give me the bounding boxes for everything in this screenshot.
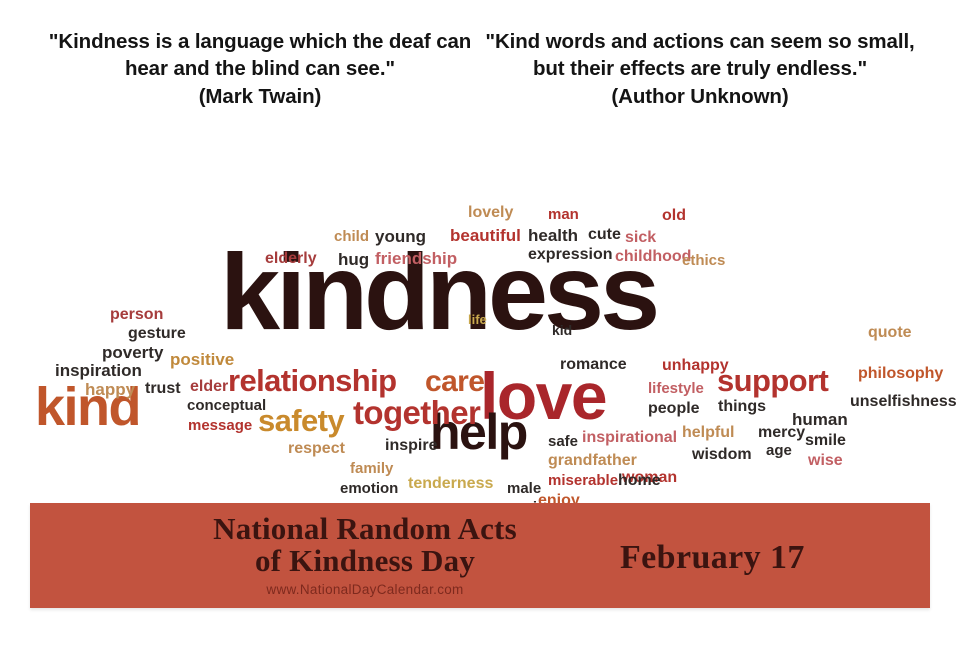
wordcloud-word: inspirational: [582, 430, 677, 446]
wordcloud-word: beautiful: [450, 227, 521, 244]
wordcloud-word: happy: [85, 381, 135, 398]
wordcloud-word: grandfather: [548, 453, 637, 469]
wordcloud-word: person: [110, 307, 163, 323]
wordcloud-word: expression: [528, 247, 612, 263]
wordcloud-word: care: [425, 367, 484, 397]
wordcloud-word: gesture: [128, 326, 186, 342]
wordcloud-word: emotion: [340, 481, 398, 496]
wordcloud-word: inspiration: [55, 362, 142, 379]
wordcloud-word: elderly: [265, 251, 317, 267]
wordcloud-word: young: [375, 228, 426, 245]
wordcloud-word: inspire: [385, 438, 437, 454]
quote-text-right: "Kind words and actions can seem so smal…: [480, 28, 920, 83]
wordcloud-word: elder: [190, 379, 228, 395]
wordcloud-word: romance: [560, 357, 627, 373]
wordcloud-word: wise: [808, 453, 843, 469]
wordcloud-word: male: [507, 481, 541, 496]
quote-attribution-right: (Author Unknown): [480, 83, 920, 110]
wordcloud-word: smile: [805, 433, 846, 449]
wordcloud-word: poverty: [102, 344, 163, 361]
wordcloud-word: old: [662, 208, 686, 224]
wordcloud-word: friendship: [375, 250, 457, 267]
wordcloud-canvas: kindnesskindlovehelptogetherrelationship…: [30, 185, 930, 503]
quote-text-left: "Kindness is a language which the deaf c…: [40, 28, 480, 83]
wordcloud-word: hug: [338, 251, 369, 268]
wordcloud-word: miserable: [548, 473, 618, 488]
wordcloud-word: sick: [625, 230, 656, 246]
wordcloud-word: childhood: [615, 249, 691, 265]
wordcloud-word: human: [792, 411, 848, 428]
wordcloud-word: unhappy: [662, 358, 729, 374]
wordcloud-word: cute: [588, 227, 621, 243]
wordcloud-word: wisdom: [692, 447, 752, 463]
wordcloud-word: man: [548, 207, 579, 222]
wordcloud-word: conceptual: [187, 398, 266, 413]
wordcloud-word: things: [718, 399, 766, 415]
banner-title-line1: National Random Acts: [150, 513, 580, 545]
wordcloud-word: trust: [145, 381, 181, 397]
wordcloud-word: together: [353, 396, 480, 429]
banner-inner: National Random Acts of Kindness Day www…: [30, 503, 930, 608]
wordcloud-word: lifestyle: [648, 381, 704, 396]
wordcloud-word: life: [468, 313, 487, 326]
wordcloud-word: message: [188, 418, 252, 433]
wordcloud-word: child: [334, 229, 369, 244]
wordcloud-word: positive: [170, 351, 234, 368]
wordcloud-word: kid: [552, 323, 572, 337]
wordcloud-word: family: [350, 461, 393, 476]
wordcloud-word: people: [648, 401, 700, 417]
wordcloud-word: safety: [258, 405, 344, 436]
wordcloud-word: helpful: [682, 425, 734, 441]
wordcloud-word: respect: [288, 441, 345, 457]
banner-date: February 17: [620, 539, 910, 577]
wordcloud-word: relationship: [228, 365, 397, 396]
quotes-band: "Kindness is a language which the deaf c…: [0, 0, 960, 170]
wordcloud-word: safe: [548, 434, 578, 449]
wordcloud-word: lovely: [468, 205, 513, 221]
quote-card-left: "Kindness is a language which the deaf c…: [40, 0, 480, 110]
wordcloud-word: tenderness: [408, 476, 493, 492]
wordcloud-word: health: [528, 227, 578, 244]
wordcloud-word: unselfishness: [850, 394, 957, 410]
wordcloud-word: philosophy: [858, 366, 943, 382]
wordcloud-word: home: [618, 473, 661, 489]
quote-attribution-left: (Mark Twain): [40, 83, 480, 110]
banner-title-line2: of Kindness Day: [150, 545, 580, 577]
wordcloud-word: quote: [868, 325, 912, 341]
wordcloud-word: support: [717, 365, 828, 396]
wordcloud-word: age: [766, 443, 792, 458]
quote-card-right: "Kind words and actions can seem so smal…: [480, 0, 920, 110]
promo-banner: National Random Acts of Kindness Day www…: [30, 503, 930, 608]
wordcloud-word: ethics: [682, 253, 725, 268]
banner-title-group: National Random Acts of Kindness Day www…: [150, 513, 580, 597]
wordcloud-panel: kindnesskindlovehelptogetherrelationship…: [30, 185, 930, 503]
banner-website-url: www.NationalDayCalendar.com: [150, 582, 580, 597]
